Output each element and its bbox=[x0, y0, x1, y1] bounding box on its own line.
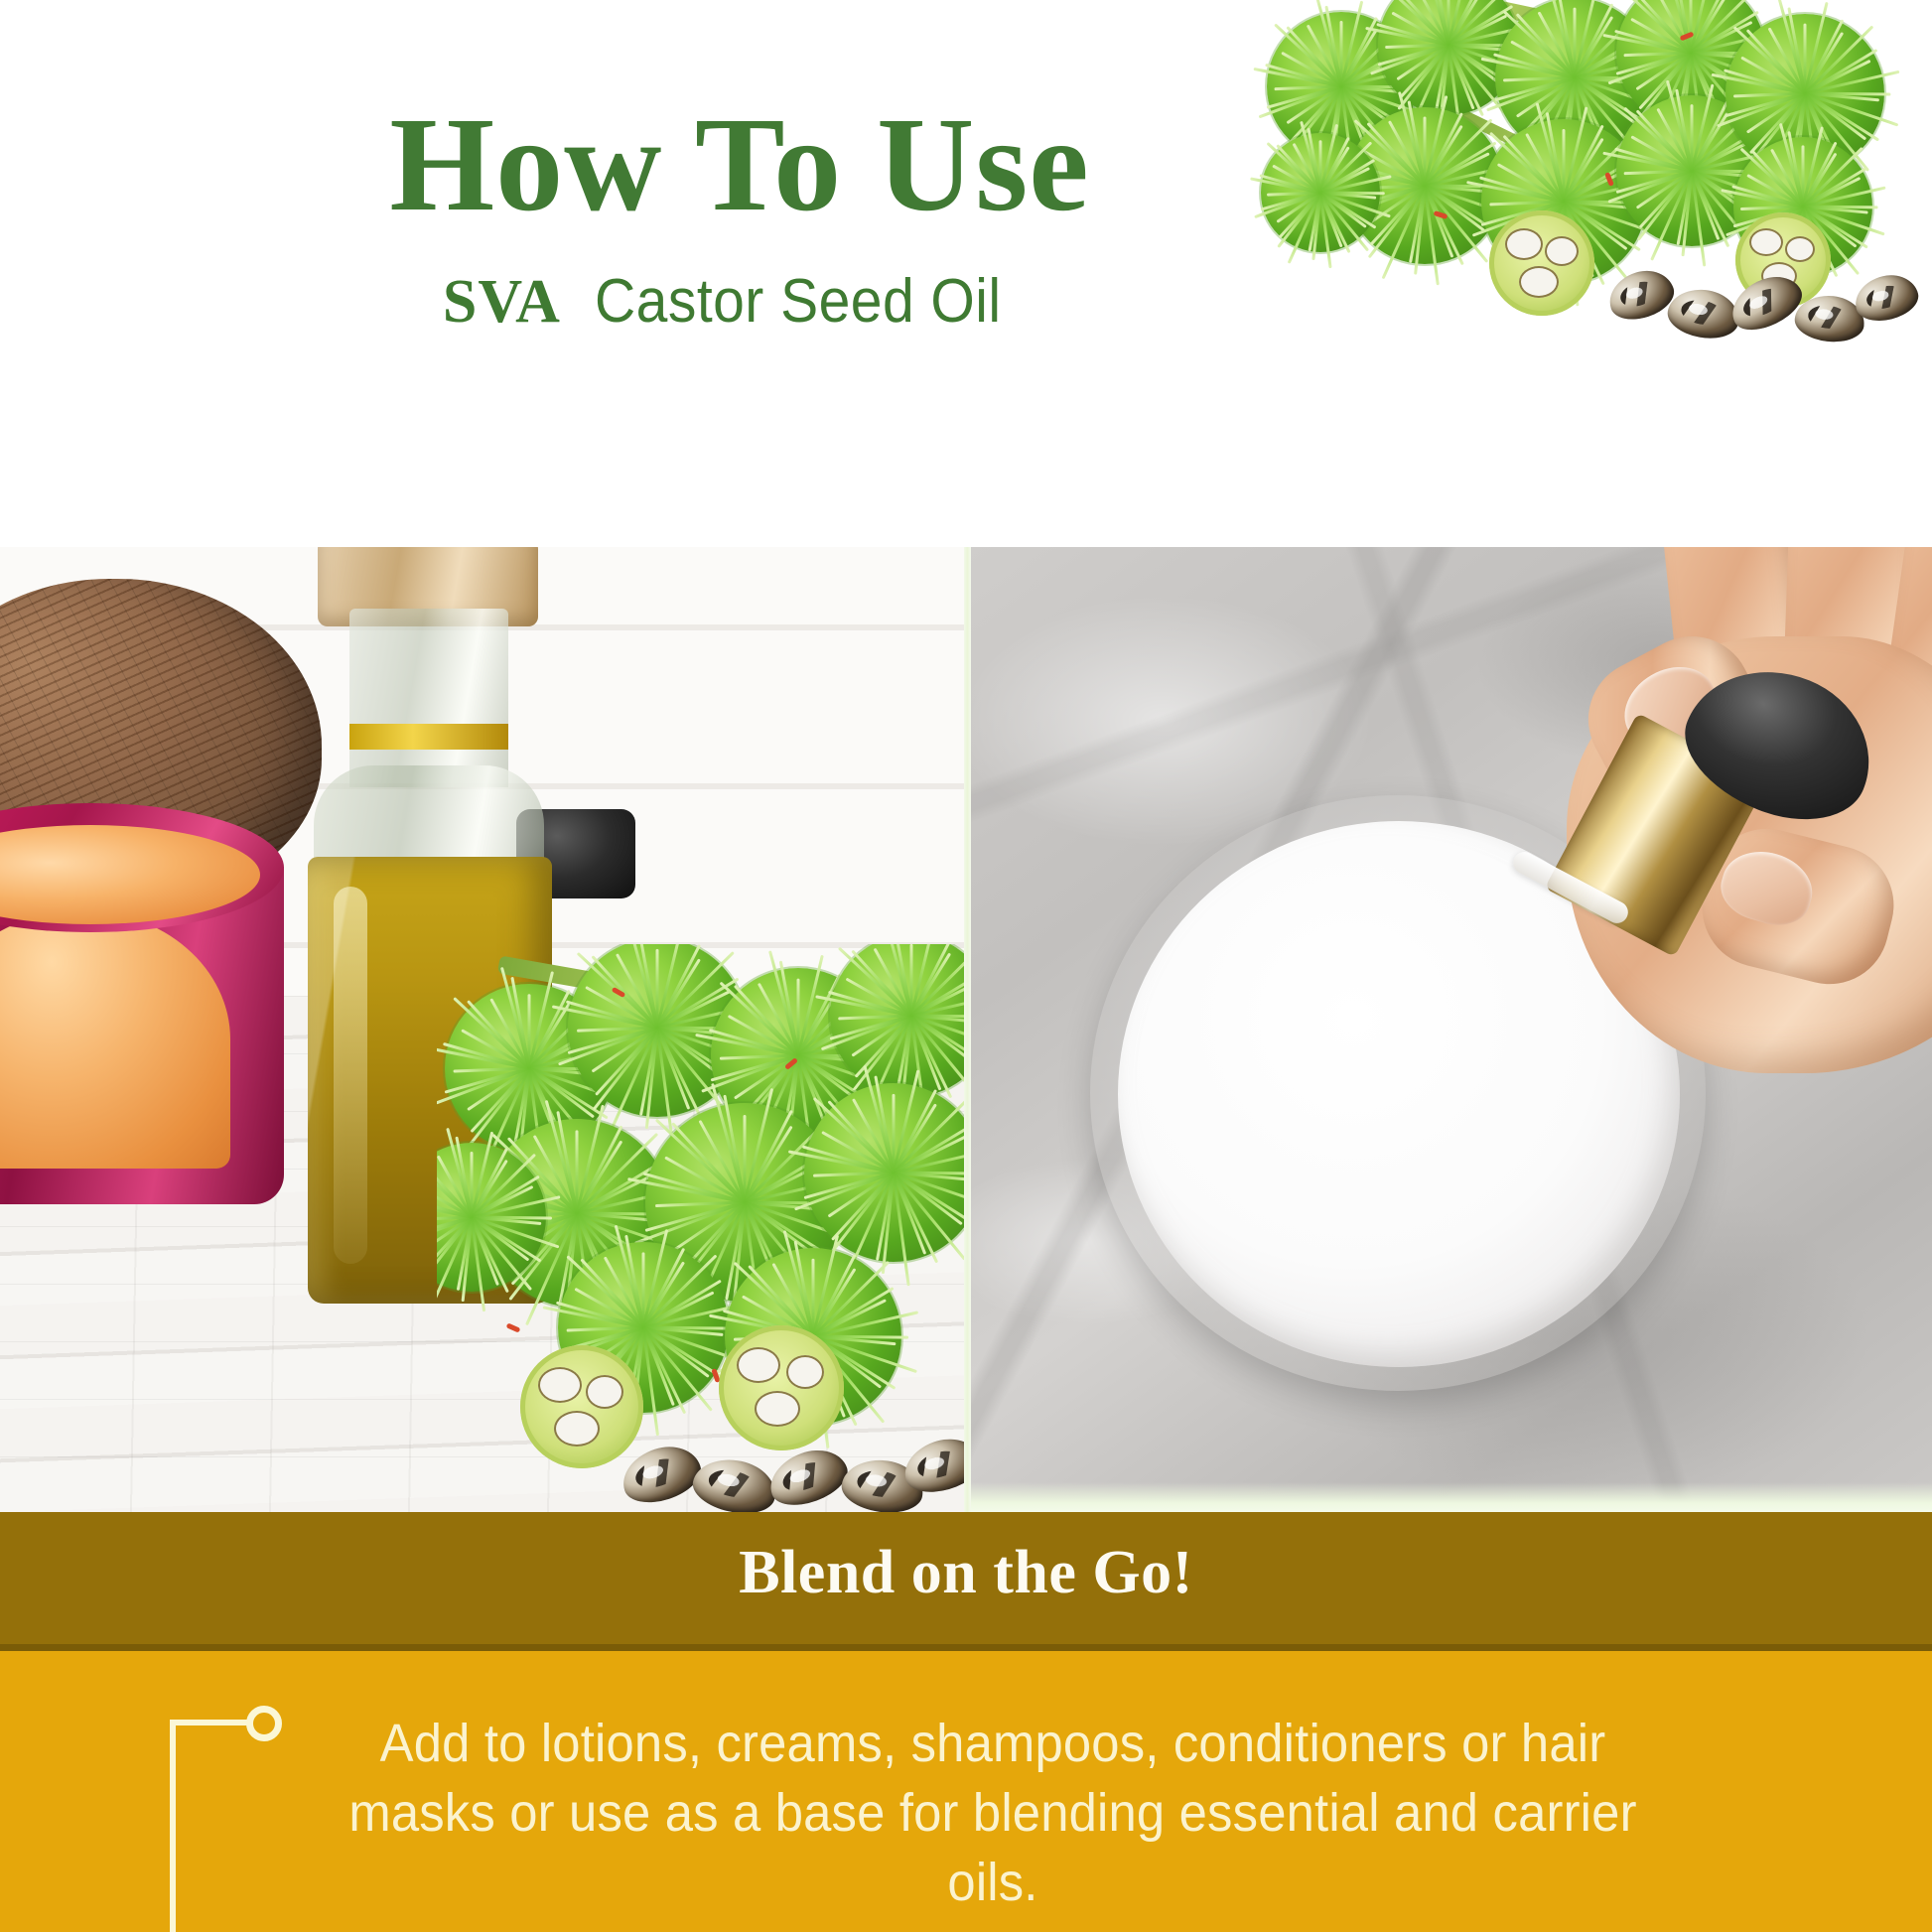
bracket-horizontal-line bbox=[170, 1720, 249, 1725]
infographic-page: How To Use SVA Castor Seed Oil bbox=[0, 0, 1932, 1932]
bullet-line-1: Add to lotions, creams, shampoos, condit… bbox=[331, 1709, 1656, 1778]
bullet-text-block: Add to lotions, creams, shampoos, condit… bbox=[288, 1709, 1698, 1918]
banner-section: Blend on the Go! bbox=[0, 1512, 1932, 1651]
page-subtitle: SVA Castor Seed Oil bbox=[0, 266, 1479, 338]
bullet-line-2: masks or use as a base for blending esse… bbox=[331, 1778, 1656, 1917]
photo-dropper-into-cream bbox=[971, 547, 1932, 1512]
bullet-bracket-decoration bbox=[0, 1651, 298, 1932]
brand-name: SVA bbox=[443, 268, 561, 336]
page-title: How To Use bbox=[0, 95, 1479, 235]
photo-divider bbox=[964, 547, 971, 1512]
castor-pods-cluster bbox=[437, 944, 964, 1512]
bottle-neck bbox=[349, 609, 508, 787]
bracket-vertical-line bbox=[170, 1720, 176, 1932]
cream-jar-object bbox=[0, 803, 284, 1220]
banner-heading: Blend on the Go! bbox=[0, 1538, 1932, 1608]
header-section: How To Use SVA Castor Seed Oil bbox=[0, 0, 1932, 547]
product-name: Castor Seed Oil bbox=[595, 266, 1002, 337]
bottom-section: Add to lotions, creams, shampoos, condit… bbox=[0, 1651, 1932, 1932]
photo-band bbox=[0, 547, 1932, 1512]
photo-castor-oil-bottle bbox=[0, 547, 964, 1512]
banner-bottom-rule bbox=[0, 1644, 1932, 1651]
hand-holding-dropper bbox=[1388, 547, 1932, 1182]
bullet-circle-icon bbox=[246, 1706, 282, 1741]
photo-right-bottom-fade bbox=[971, 1482, 1932, 1512]
